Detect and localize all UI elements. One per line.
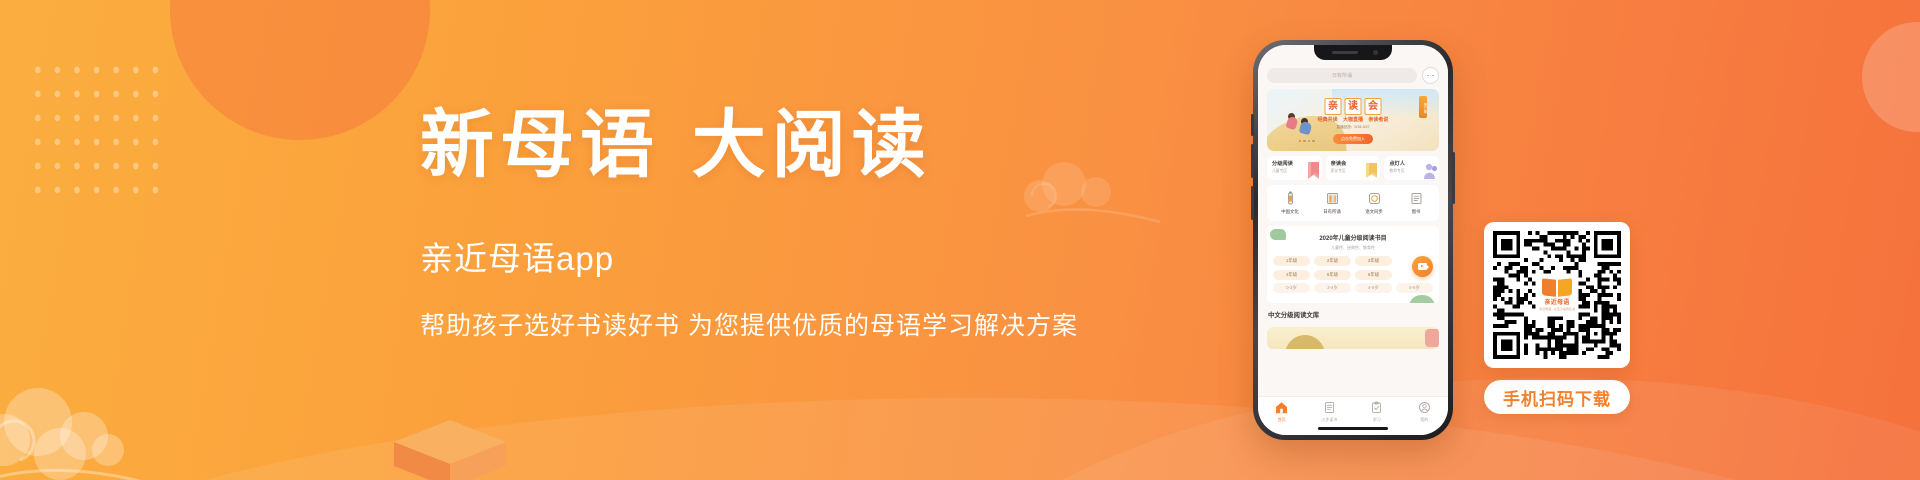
- earpiece-speaker: [1332, 51, 1358, 54]
- hero-feature: 大咖直播: [1343, 117, 1363, 123]
- booklist-chips: 1年级 2年级 3年级 4年级 5年级 6年级 0-3岁: [1273, 256, 1433, 293]
- library-card-book: [1425, 329, 1439, 347]
- reading-icon: [1323, 401, 1336, 414]
- quick-entry-culture[interactable]: 中国文化: [1269, 191, 1311, 215]
- age-chip[interactable]: 4-5岁: [1355, 283, 1392, 293]
- decor-cube: [390, 418, 510, 480]
- book-icon: [1409, 191, 1424, 206]
- category-cards: 分级阅读 儿童专区 亲读会 家长专区: [1267, 156, 1439, 180]
- booklist-card: 2020年儿童分级阅读书目 儿童性、经典性、教育性 1年级 2年级 3年级: [1267, 226, 1439, 303]
- banner-tagline: 帮助孩子选好书读好书 为您提供优质的母语学习解决方案: [420, 306, 1210, 342]
- sync-icon: [1367, 191, 1382, 206]
- library-card[interactable]: [1267, 327, 1439, 349]
- booklist-subtitle: 儿童性、经典性、教育性: [1273, 245, 1433, 251]
- decor-cloud-bottom-left: [0, 378, 240, 480]
- grade-chip[interactable]: 2年级: [1314, 256, 1351, 266]
- scan-download-button[interactable]: 手机扫码下载: [1484, 380, 1630, 414]
- decor-dot-grid: [28, 58, 168, 208]
- grade-chip[interactable]: 1年级: [1273, 256, 1310, 266]
- banner-copy: 新母语 大阅读 亲近母语app 帮助孩子选好书读好书 为您提供优质的母语学习解决…: [420, 108, 1210, 342]
- phone-volume-up: [1251, 144, 1254, 178]
- grade-chip[interactable]: 4年级: [1273, 270, 1310, 280]
- grade-chip-row-1: 1年级 2年级 3年级: [1273, 256, 1433, 266]
- home-indicator: [1318, 427, 1388, 430]
- video-play-icon[interactable]: [1412, 256, 1433, 277]
- decor-circle-top-left: [170, 0, 430, 140]
- tab-home[interactable]: 首页: [1258, 401, 1306, 423]
- study-icon: [1370, 401, 1383, 414]
- qr-center-logo: 亲近母语 亲近母语 · 让孩子读到好书: [1537, 275, 1577, 315]
- decor-hill-back: [0, 398, 1920, 480]
- tab-label: 学习: [1373, 417, 1381, 423]
- library-card-arc: [1285, 335, 1325, 349]
- quick-entry-books[interactable]: 图书: [1395, 191, 1437, 215]
- hero-title-char: 亲: [1325, 98, 1342, 115]
- front-camera: [1373, 50, 1378, 55]
- app-screen: 日有所诵 亲 读 会: [1258, 45, 1448, 435]
- phone-power-button: [1452, 152, 1455, 204]
- quick-entry-label: 日有所诵: [1323, 209, 1341, 215]
- hero-feature: 亲读者说: [1368, 117, 1388, 123]
- hero-title: 亲 读 会: [1325, 98, 1382, 115]
- qr-code-card[interactable]: 亲近母语 亲近母语 · 让孩子读到好书: [1484, 222, 1630, 368]
- tab-profile[interactable]: 我的: [1401, 401, 1449, 423]
- hero-feature: 经典共读: [1318, 117, 1338, 123]
- phone-mockup: 日有所诵 亲 读 会: [1253, 40, 1453, 440]
- recite-icon: [1325, 191, 1340, 206]
- bookmark-yellow-icon: [1365, 162, 1378, 179]
- phone-notch: [1314, 45, 1392, 60]
- age-chip-row: 0-3岁 3-4岁 4-5岁 5-6岁: [1273, 283, 1433, 293]
- home-icon: [1275, 401, 1288, 414]
- hero-date: 直播回放：9/16-9/27: [1336, 125, 1369, 130]
- bookmark-red-icon: [1307, 162, 1320, 179]
- category-card-graded-reading[interactable]: 分级阅读 儿童专区: [1267, 156, 1322, 180]
- search-row: 日有所诵: [1267, 67, 1439, 84]
- quick-entry-label: 语文同步: [1365, 209, 1383, 215]
- tab-reading[interactable]: 小步读书: [1306, 401, 1354, 423]
- hero-banner-card[interactable]: 亲 读 会 第六期 经典共读 大咖直播 亲读者说 直播回放：9/16-9/27 …: [1267, 89, 1439, 151]
- category-card-parent-club[interactable]: 亲读会 家长专区: [1326, 156, 1381, 180]
- hero-cta-button[interactable]: 点击免费加入: [1333, 134, 1373, 144]
- qr-logo-slogan: 亲近母语 · 让孩子读到好书: [1539, 307, 1575, 311]
- banner-headline: 新母语 大阅读: [420, 108, 1210, 182]
- tab-label: 我的: [1420, 417, 1428, 423]
- hero-features: 经典共读 大咖直播 亲读者说: [1316, 116, 1391, 123]
- library-section-title: 中文分级阅读文库: [1267, 308, 1439, 319]
- people-purple-icon: [1424, 162, 1437, 179]
- qr-logo-name: 亲近母语: [1544, 297, 1569, 306]
- category-card-teacher[interactable]: 点灯人 教师专区: [1384, 156, 1439, 180]
- decor-circle-top-right: [1862, 22, 1920, 132]
- promo-banner: 新母语 大阅读 亲近母语app 帮助孩子选好书读好书 为您提供优质的母语学习解决…: [0, 0, 1920, 480]
- age-chip[interactable]: 5-6岁: [1396, 283, 1433, 293]
- hero-title-char: 读: [1345, 98, 1362, 115]
- quick-entry-label: 中国文化: [1281, 209, 1299, 215]
- grade-chip-row-2: 4年级 5年级 6年级: [1273, 270, 1433, 280]
- hero-title-char: 会: [1365, 98, 1382, 115]
- qr-download-block: 亲近母语 亲近母语 · 让孩子读到好书 手机扫码下载: [1484, 222, 1630, 414]
- tab-label: 小步读书: [1321, 417, 1337, 423]
- more-dots-icon[interactable]: [1422, 67, 1439, 84]
- open-book-icon: [1542, 279, 1572, 296]
- grade-chip[interactable]: 6年级: [1355, 270, 1392, 280]
- quick-entry-sync[interactable]: 语文同步: [1353, 191, 1395, 215]
- decor-leaf-bottom: [1409, 295, 1435, 303]
- grade-chip[interactable]: 3年级: [1355, 256, 1392, 266]
- grade-chip[interactable]: 5年级: [1314, 270, 1351, 280]
- phone-volume-down: [1251, 186, 1254, 220]
- culture-icon: [1283, 191, 1298, 206]
- booklist-title: 2020年儿童分级阅读书目: [1273, 233, 1433, 242]
- profile-icon: [1418, 401, 1431, 414]
- phone-mute-switch: [1251, 114, 1254, 136]
- banner-subline: 亲近母语app: [420, 232, 1210, 280]
- hero-badge: 第六期: [1419, 96, 1427, 118]
- quick-entry-recite[interactable]: 日有所诵: [1311, 191, 1353, 215]
- quick-entry-label: 图书: [1412, 209, 1421, 215]
- quick-entry-row: 中国文化 日有所诵: [1267, 185, 1439, 221]
- tab-label: 首页: [1278, 417, 1286, 423]
- hero-pager[interactable]: [1299, 140, 1315, 142]
- age-chip[interactable]: 3-4岁: [1314, 283, 1351, 293]
- search-input[interactable]: 日有所诵: [1267, 68, 1417, 83]
- tab-study[interactable]: 学习: [1353, 401, 1401, 423]
- age-chip[interactable]: 0-3岁: [1273, 283, 1310, 293]
